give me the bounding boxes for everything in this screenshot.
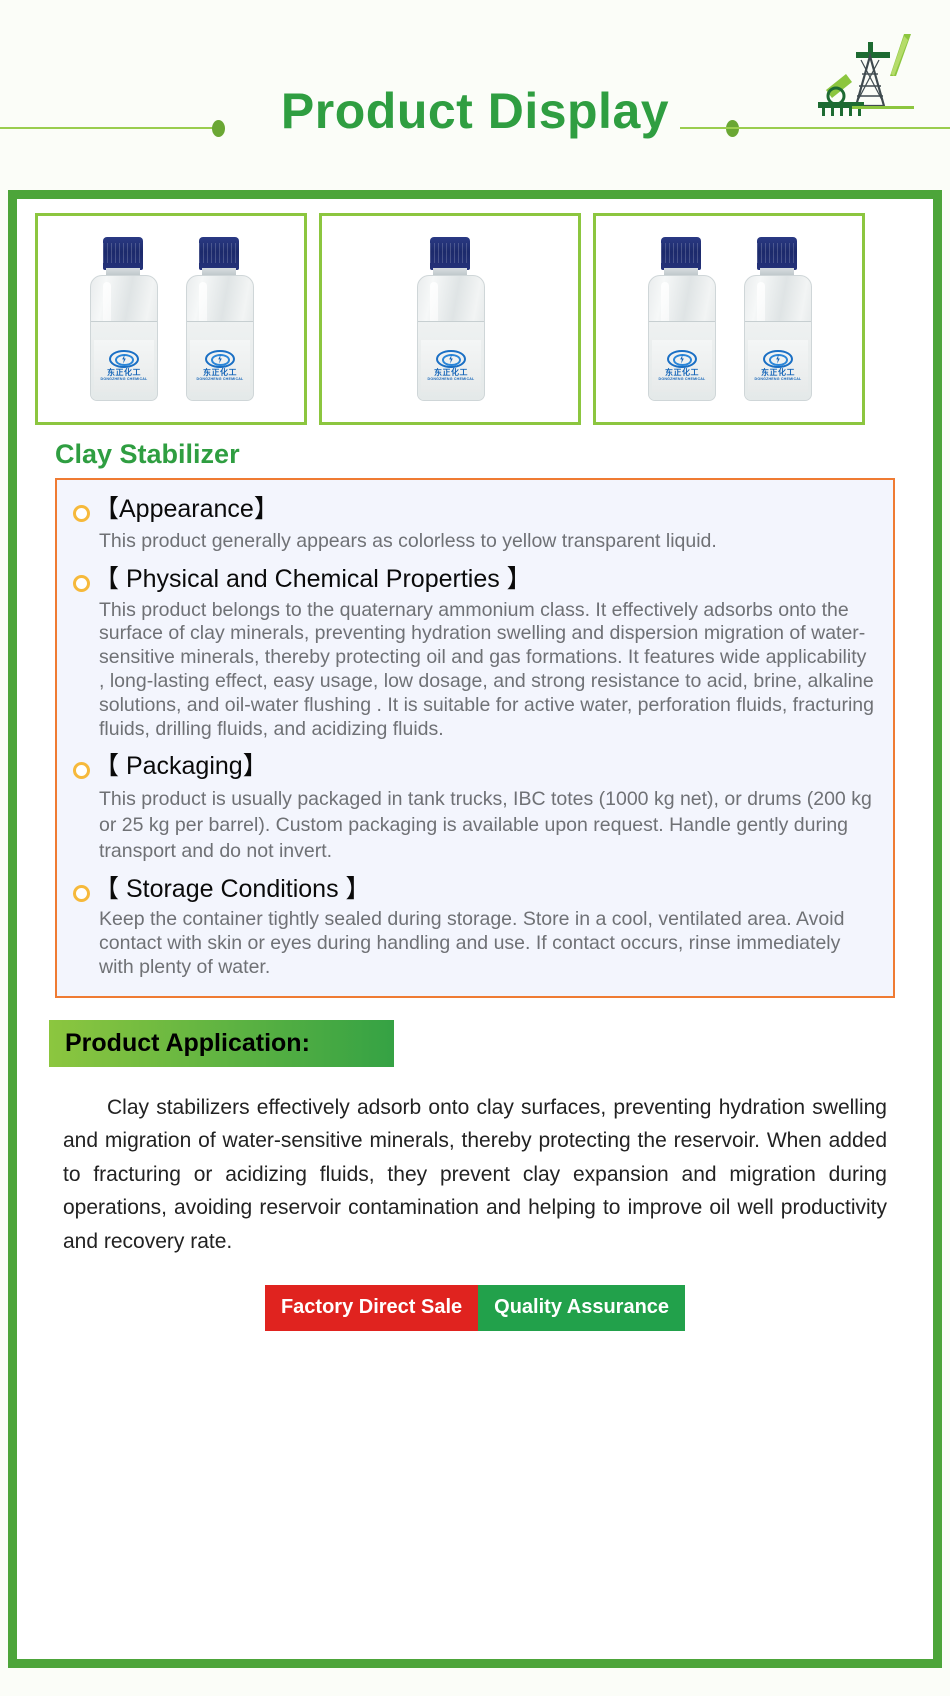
bottle-body: 东正化工 DONGZHENG CHEMICAL bbox=[186, 275, 254, 401]
spec-section-appearance: 【Appearance】 This product generally appe… bbox=[73, 494, 877, 554]
product-application-text: Clay stabilizers effectively adsorb onto… bbox=[63, 1091, 887, 1259]
spec-heading-row: 【Appearance】 bbox=[73, 494, 877, 525]
bottle-image: 东正化工 DONGZHENG CHEMICAL bbox=[642, 235, 720, 403]
bottle-image: 东正化工 DONGZHENG CHEMICAL bbox=[411, 235, 489, 403]
dongzheng-logo-icon bbox=[763, 350, 793, 368]
spec-section-packaging: 【 Packaging】 This product is usually pac… bbox=[73, 751, 877, 864]
spec-heading: 【 Physical and Chemical Properties 】 bbox=[94, 564, 532, 595]
badge-label: Quality Assurance bbox=[494, 1296, 669, 1319]
spec-heading-row: 【 Packaging】 bbox=[73, 751, 877, 782]
header-rule-right bbox=[680, 127, 950, 129]
product-photo-3[interactable]: 东正化工 DONGZHENG CHEMICAL 东正化工 bbox=[593, 213, 865, 425]
brand-name-cn: 东正化工 bbox=[107, 369, 141, 377]
spec-body: This product is usually packaged in tank… bbox=[99, 786, 877, 864]
bottle-body: 东正化工 DONGZHENG CHEMICAL bbox=[90, 275, 158, 401]
bottle-image: 东正化工 DONGZHENG CHEMICAL bbox=[180, 235, 258, 403]
bottle-label: 东正化工 DONGZHENG CHEMICAL bbox=[652, 340, 712, 392]
dongzheng-logo-icon bbox=[667, 350, 697, 368]
bottle-body: 东正化工 DONGZHENG CHEMICAL bbox=[648, 275, 716, 401]
brand-name-en: DONGZHENG CHEMICAL bbox=[197, 378, 244, 382]
spec-body: This product generally appears as colorl… bbox=[99, 528, 877, 554]
bottle-cap-icon bbox=[199, 237, 239, 270]
bullet-dot-icon bbox=[73, 505, 90, 522]
spec-heading: 【 Packaging】 bbox=[94, 751, 268, 782]
badge-quality-assurance[interactable]: Quality Assurance bbox=[478, 1285, 685, 1331]
bottle-label: 东正化工 DONGZHENG CHEMICAL bbox=[190, 340, 250, 392]
bullet-dot-icon bbox=[73, 575, 90, 592]
oil-pumpjack-icon bbox=[812, 30, 922, 120]
bottle-label: 东正化工 DONGZHENG CHEMICAL bbox=[94, 340, 154, 392]
product-application-label: Product Application: bbox=[65, 1029, 310, 1058]
product-photo-2[interactable]: 东正化工 DONGZHENG CHEMICAL bbox=[319, 213, 581, 425]
spec-body: This product belongs to the quaternary a… bbox=[99, 599, 877, 742]
brand-name-en: DONGZHENG CHEMICAL bbox=[101, 378, 148, 382]
spec-heading-row: 【 Physical and Chemical Properties 】 bbox=[73, 564, 877, 595]
dongzheng-logo-icon bbox=[205, 350, 235, 368]
bottle-cap-icon bbox=[430, 237, 470, 270]
brand-name-cn: 东正化工 bbox=[434, 369, 468, 377]
bottle-label: 东正化工 DONGZHENG CHEMICAL bbox=[748, 340, 808, 392]
bottle-image: 东正化工 DONGZHENG CHEMICAL bbox=[84, 235, 162, 403]
brand-name-en: DONGZHENG CHEMICAL bbox=[428, 378, 475, 382]
brand-name-en: DONGZHENG CHEMICAL bbox=[659, 378, 706, 382]
spec-body: Keep the container tightly sealed during… bbox=[99, 908, 877, 979]
dongzheng-logo-icon bbox=[109, 350, 139, 368]
bottle-cap-icon bbox=[757, 237, 797, 270]
spec-heading: 【 Storage Conditions 】 bbox=[94, 874, 371, 905]
product-photo-1[interactable]: 东正化工 DONGZHENG CHEMICAL 东正化工 bbox=[35, 213, 307, 425]
product-name: Clay Stabilizer bbox=[55, 439, 915, 470]
bullet-dot-icon bbox=[73, 762, 90, 779]
badge-factory-direct-sale[interactable]: Factory Direct Sale bbox=[265, 1285, 478, 1331]
bottle-cap-icon bbox=[103, 237, 143, 270]
product-gallery: 东正化工 DONGZHENG CHEMICAL 东正化工 bbox=[35, 213, 915, 425]
bottle-body: 东正化工 DONGZHENG CHEMICAL bbox=[417, 275, 485, 401]
brand-name-en: DONGZHENG CHEMICAL bbox=[755, 378, 802, 382]
page-title: Product Display bbox=[0, 82, 950, 140]
bullet-dot-icon bbox=[73, 885, 90, 902]
spec-heading-row: 【 Storage Conditions 】 bbox=[73, 874, 877, 905]
spec-heading: 【Appearance】 bbox=[94, 494, 279, 525]
product-application-banner: Product Application: bbox=[49, 1020, 394, 1067]
product-spec-box: 【Appearance】 This product generally appe… bbox=[55, 478, 895, 998]
bottle-label: 东正化工 DONGZHENG CHEMICAL bbox=[421, 340, 481, 392]
bottle-cap-icon bbox=[661, 237, 701, 270]
brand-name-cn: 东正化工 bbox=[761, 369, 795, 377]
brand-name-cn: 东正化工 bbox=[203, 369, 237, 377]
badge-row: Factory Direct Sale Quality Assurance bbox=[35, 1285, 915, 1331]
brand-name-cn: 东正化工 bbox=[665, 369, 699, 377]
spec-section-storage: 【 Storage Conditions 】 Keep the containe… bbox=[73, 874, 877, 980]
bottle-image: 东正化工 DONGZHENG CHEMICAL bbox=[738, 235, 816, 403]
dongzheng-logo-icon bbox=[436, 350, 466, 368]
spec-section-physical-chemical: 【 Physical and Chemical Properties 】 Thi… bbox=[73, 564, 877, 741]
bottle-body: 东正化工 DONGZHENG CHEMICAL bbox=[744, 275, 812, 401]
badge-label: Factory Direct Sale bbox=[281, 1296, 462, 1319]
page-header: Product Display bbox=[0, 0, 950, 178]
product-display-card: 东正化工 DONGZHENG CHEMICAL 东正化工 bbox=[8, 190, 942, 1668]
